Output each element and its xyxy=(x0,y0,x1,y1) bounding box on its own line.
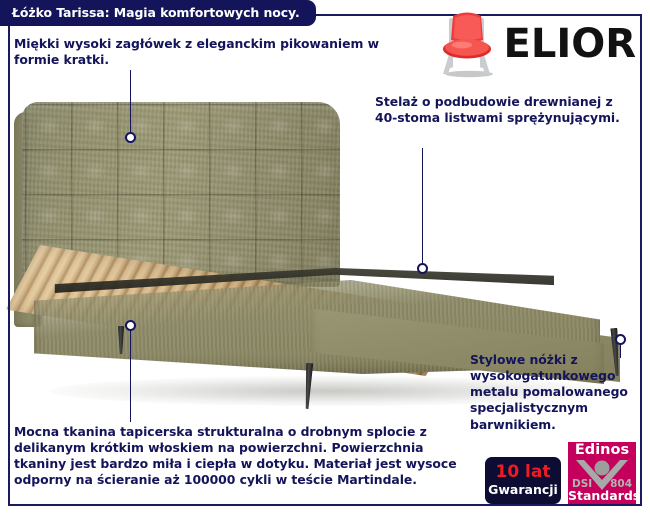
callout-marker-slats[interactable] xyxy=(417,263,428,274)
red-chair-icon xyxy=(436,8,498,80)
product-infographic: Łóżko Tarissa: Magia komfortowych nocy. … xyxy=(0,0,650,514)
callout-text-slats: Stelaż o podbudowie drewnianej z 40-stom… xyxy=(375,94,625,126)
edinos-name: Edinos xyxy=(575,443,629,458)
callout-text-headboard: Miękki wysoki zagłówek z eleganckim piko… xyxy=(14,36,414,68)
edinos-standards-badge: Edinos DSI 804 Standards xyxy=(568,442,636,504)
callout-marker-headboard[interactable] xyxy=(125,132,136,143)
leader-line-headboard xyxy=(130,70,132,137)
callout-text-fabric: Mocna tkanina tapicerska strukturalna o … xyxy=(14,424,464,489)
brand-name: ELIOR xyxy=(504,24,637,64)
callout-text-legs: Stylowe nóżki z wysokogatunkowego metalu… xyxy=(470,352,646,433)
brand-logo: ELIOR xyxy=(456,6,636,82)
warranty-years: 10 lat xyxy=(495,464,550,481)
certification-badges: 10 lat Gwarancji Edinos DSI 804 Standard… xyxy=(485,442,636,504)
page-title: Łóżko Tarissa: Magia komfortowych nocy. xyxy=(0,0,316,26)
leader-line-fabric xyxy=(130,330,132,422)
warranty-label: Gwarancji xyxy=(488,483,558,497)
edinos-standards-label: Standards xyxy=(568,488,636,503)
leader-line-slats xyxy=(422,148,424,268)
callout-marker-legs[interactable] xyxy=(615,334,626,345)
callout-marker-fabric[interactable] xyxy=(125,320,136,331)
warranty-badge: 10 lat Gwarancji xyxy=(485,457,561,504)
